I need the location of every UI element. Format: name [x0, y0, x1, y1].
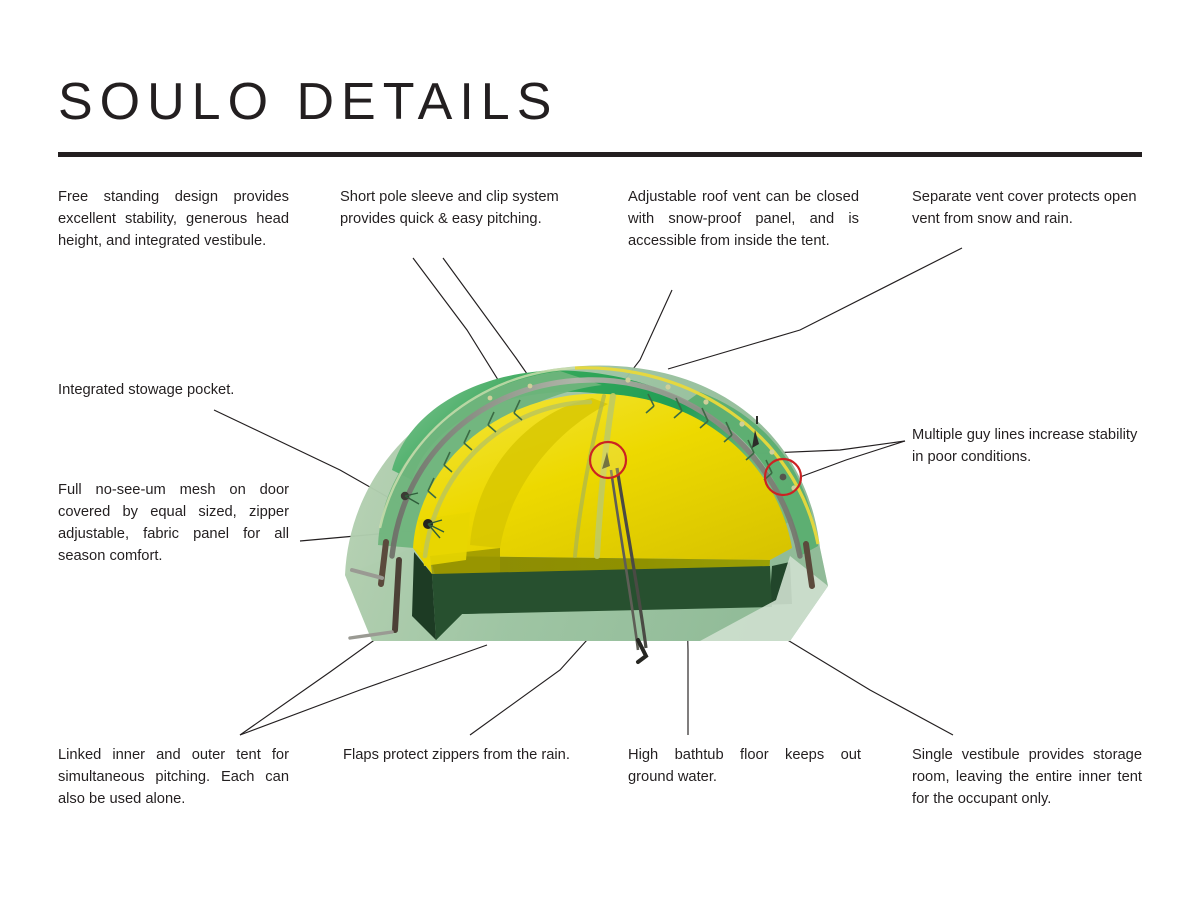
pole-arch-main [392, 380, 800, 556]
leader-line-pole-sleeve [443, 258, 541, 394]
leader-line-guy-right [800, 441, 905, 477]
caption-vent-cover: Separate vent cover protects open vent f… [912, 186, 1142, 230]
canopy-green-right-panel [686, 392, 818, 556]
leader-line-vent-cover [668, 248, 962, 369]
pole-peg-left-2 [350, 632, 392, 638]
bathtub-floor [436, 562, 792, 640]
front-guy-peg [638, 640, 646, 662]
pole-foot-right [806, 544, 812, 586]
inner-left-olive-shade [430, 548, 500, 614]
leader-line-linked-a [240, 600, 430, 735]
tent-body [345, 366, 828, 662]
outer-fly [345, 366, 828, 641]
inner-tent-olive-band [430, 556, 770, 596]
leader-line-vestibule [776, 633, 953, 735]
guy-line-callout-circle-right [765, 459, 801, 495]
caption-guy-lines: Multiple guy lines increase stability in… [912, 424, 1142, 468]
page-title: SOULO DETAILS [58, 72, 558, 132]
pole-clips-left [428, 400, 522, 498]
caption-pole-sleeve: Short pole sleeve and clip system provid… [340, 186, 573, 230]
leader-line-bathtub [686, 563, 688, 735]
door-hub-lower [423, 519, 433, 529]
inner-tent-shadow-wedge [470, 398, 608, 548]
rim-grommets [488, 377, 797, 490]
door-left-yellow [413, 548, 432, 574]
pole-peg-left [352, 570, 382, 578]
pole-clips-right [646, 394, 772, 480]
leader-line-mesh-door [300, 524, 527, 541]
caption-mesh-door: Full no-see-um mesh on door covered by e… [58, 479, 289, 567]
pole-crossing-front-2 [575, 396, 604, 556]
leader-line-freestanding [413, 258, 500, 383]
caption-freestanding: Free standing design provides excellent … [58, 186, 289, 252]
caption-stowage-pocket: Integrated stowage pocket. [58, 379, 298, 401]
caption-vestibule: Single vestibule provides storage room, … [912, 744, 1142, 810]
poster-page: SOULO DETAILS [0, 0, 1200, 900]
caption-linked-tent: Linked inner and outer tent for simultan… [58, 744, 289, 810]
door-hub-strands [405, 493, 444, 538]
pole-foot-left [381, 542, 386, 584]
fly-skirt-right [700, 556, 828, 641]
caption-roof-vent: Adjustable roof vent can be closed with … [628, 186, 859, 252]
canopy-green-left-panel [378, 371, 602, 548]
front-guy-pole-2 [611, 470, 638, 650]
leader-lines-group [214, 248, 962, 735]
guy-attachment-right-dot [780, 474, 787, 481]
inner-tent-yellow [413, 394, 792, 560]
door-hub-upper [401, 492, 409, 500]
title-divider [58, 152, 1142, 157]
leader-line-guy-left [626, 441, 905, 459]
caption-flaps: Flaps protect zippers from the rain. [343, 744, 603, 766]
caption-bathtub-floor: High bathtub floor keeps out ground wate… [628, 744, 861, 788]
pole-arch-inner [425, 402, 590, 556]
vestibule-floor [345, 540, 828, 640]
fly-rim-highlight [575, 368, 818, 544]
roof-vent-tab [752, 430, 759, 448]
guy-line-callout-circle-left [590, 442, 626, 478]
bathtub-floor-left-end [412, 552, 436, 640]
leader-line-roof-vent [612, 290, 672, 396]
leader-line-linked-b [240, 645, 487, 735]
guy-attachment-left [602, 452, 610, 469]
fly-rim-highlight-left [380, 368, 575, 528]
bathtub-floor-front [432, 566, 772, 640]
pole-crossing-front [597, 396, 613, 556]
leader-line-flaps [470, 600, 623, 735]
pole-foot-left-inner [395, 560, 399, 630]
canopy-green-top [392, 371, 793, 532]
door-left-yellow2 [418, 512, 470, 566]
front-guy-pole [617, 468, 646, 648]
